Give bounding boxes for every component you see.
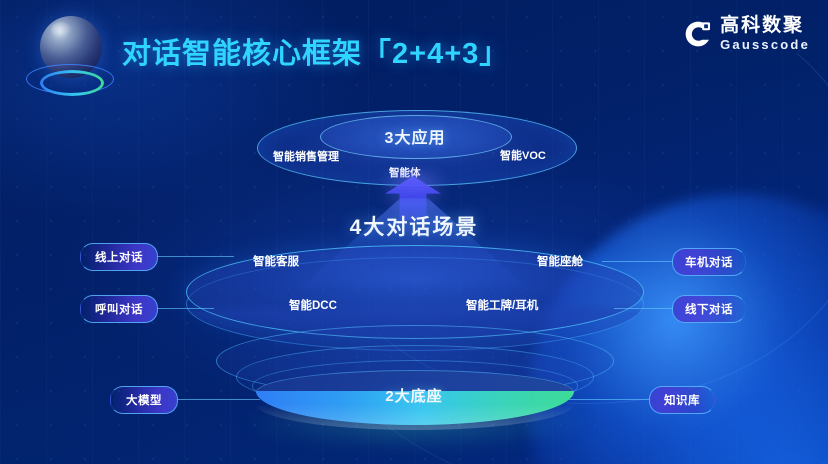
pill-offline-dialog[interactable]: 线下对话 bbox=[672, 295, 746, 323]
connector-right-bottom bbox=[614, 308, 674, 309]
connector-left-top bbox=[156, 256, 234, 257]
top-layer-label-sales: 智能销售管理 bbox=[273, 148, 339, 164]
middle-layer-label-zuocang: 智能座舱 bbox=[537, 253, 583, 269]
gausscode-g-icon bbox=[683, 19, 713, 49]
connector-right-top bbox=[602, 261, 674, 262]
middle-layer-title: 4大对话场景 bbox=[299, 211, 529, 241]
pill-call-dialog[interactable]: 呼叫对话 bbox=[80, 295, 158, 323]
top-layer-title: 3大应用 bbox=[320, 120, 510, 152]
middle-layer-label-gongpai: 智能工牌/耳机 bbox=[466, 297, 538, 313]
connector-base-right bbox=[569, 399, 651, 400]
brand-logo: 高科数聚 Gausscode bbox=[683, 16, 810, 51]
brand-sphere-icon bbox=[26, 14, 112, 102]
brand-logo-text: 高科数聚 Gausscode bbox=[720, 16, 810, 51]
pill-knowledge-base[interactable]: 知识库 bbox=[649, 386, 715, 414]
brand-name-en: Gausscode bbox=[720, 38, 810, 51]
page-title: 对话智能核心框架「2+4+3」 bbox=[122, 30, 509, 72]
middle-layer-label-kefu: 智能客服 bbox=[253, 253, 299, 269]
slide-canvas: 对话智能核心框架「2+4+3」 高科数聚 Gausscode 3大应用 智能销售… bbox=[0, 0, 828, 464]
middle-layer-label-dcc: 智能DCC bbox=[289, 297, 337, 313]
connector-base-left bbox=[176, 399, 260, 400]
pill-car-dialog[interactable]: 车机对话 bbox=[672, 248, 746, 276]
pill-large-model[interactable]: 大模型 bbox=[110, 386, 178, 414]
connector-left-bottom bbox=[156, 308, 214, 309]
brand-name-cn: 高科数聚 bbox=[720, 16, 810, 35]
pill-online-dialog[interactable]: 线上对话 bbox=[80, 243, 158, 271]
sphere-inner-ring bbox=[40, 70, 104, 96]
base-layer-title: 2大底座 bbox=[256, 385, 572, 406]
top-layer-label-voc: 智能VOC bbox=[500, 147, 546, 163]
